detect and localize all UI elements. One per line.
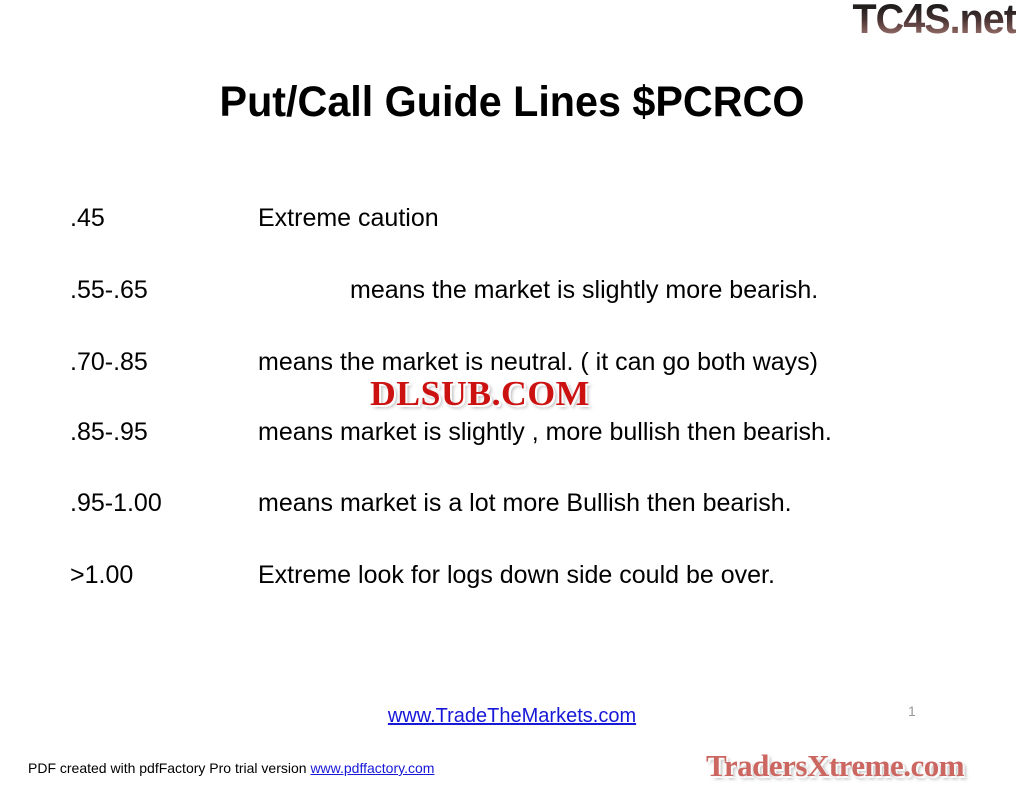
pdf-factory-notice: PDF created with pdfFactory Pro trial ve… [28, 760, 434, 776]
guide-description: means the market is neutral. ( it can go… [258, 348, 818, 376]
guide-lines-list: .45Extreme caution .55-.65means the mark… [70, 200, 970, 594]
guide-value: .55-.65 [70, 272, 258, 309]
guide-description: means market is a lot more Bullish then … [258, 489, 792, 517]
page-title: Put/Call Guide Lines $PCRCO [20, 78, 1003, 127]
list-item: .85-.95means market is slightly , more b… [70, 414, 970, 451]
pdffactory-link[interactable]: www.pdffactory.com [310, 760, 434, 776]
slide-canvas: TC4S.net Put/Call Guide Lines $PCRCO .45… [0, 0, 1024, 791]
list-item: .55-.65means the market is slightly more… [70, 272, 970, 309]
tc4s-net-logo: TC4S.net [852, 0, 1016, 42]
pdf-notice-text: PDF created with pdfFactory Pro trial ve… [28, 760, 310, 776]
list-item: .95-1.00means market is a lot more Bulli… [70, 485, 970, 522]
trade-the-markets-link[interactable]: www.TradeTheMarkets.com [388, 705, 636, 727]
footer-link[interactable]: www.TradeTheMarkets.com [0, 705, 1024, 728]
guide-description: means market is slightly , more bullish … [258, 418, 832, 446]
guide-value: .95-1.00 [70, 485, 258, 522]
guide-value: .70-.85 [70, 344, 258, 381]
guide-description: Extreme caution [258, 204, 439, 232]
list-item: >1.00Extreme look for logs down side cou… [70, 557, 970, 594]
list-item: .70-.85means the market is neutral. ( it… [70, 344, 970, 381]
guide-description: means the market is slightly more bearis… [258, 276, 818, 304]
guide-description: Extreme look for logs down side could be… [258, 561, 775, 589]
guide-value: .45 [70, 200, 258, 237]
list-item: .45Extreme caution [70, 200, 970, 237]
guide-value: .85-.95 [70, 414, 258, 451]
tradersxtreme-logo: TradersXtreme.com [706, 748, 964, 784]
guide-value: >1.00 [70, 557, 258, 594]
page-number: 1 [908, 703, 916, 719]
